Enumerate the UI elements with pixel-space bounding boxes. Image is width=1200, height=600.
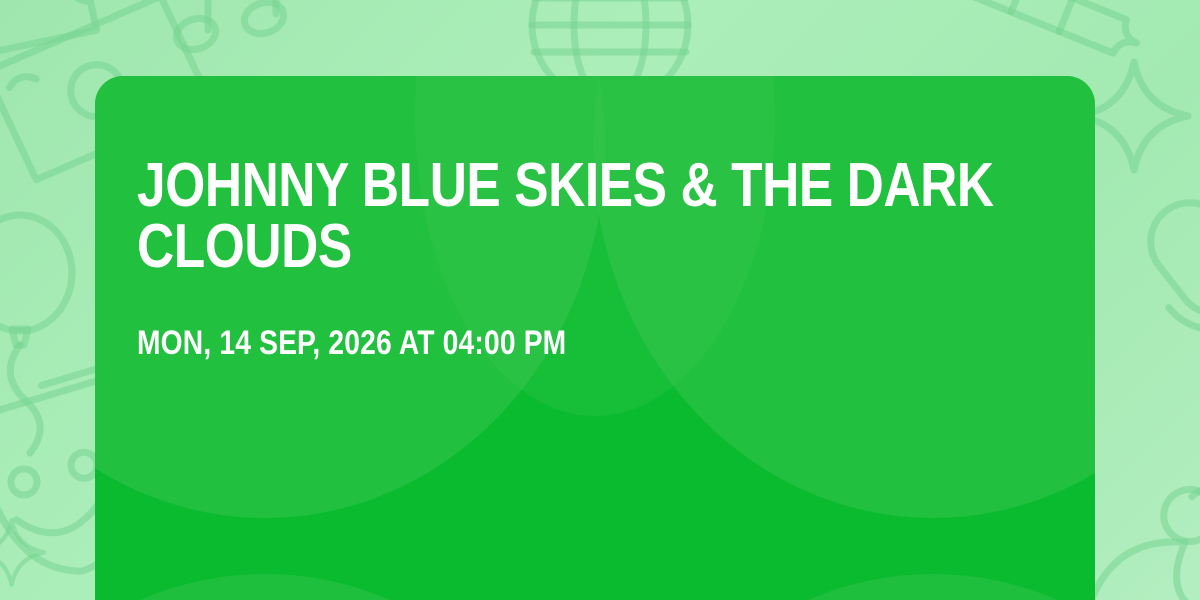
sparkle-icon bbox=[1080, 62, 1188, 170]
microphone-icon bbox=[1121, 176, 1200, 386]
ticket-icon bbox=[0, 0, 97, 55]
balloon-icon bbox=[0, 215, 72, 453]
petal-lower-right bbox=[593, 574, 1095, 600]
event-banner: Johnny Blue Skies & The Dark Clouds Mon,… bbox=[0, 0, 1200, 600]
event-datetime: Mon, 14 Sep, 2026 at 04:00 PM bbox=[137, 326, 1051, 360]
event-card[interactable]: Johnny Blue Skies & The Dark Clouds Mon,… bbox=[95, 76, 1095, 600]
event-title: Johnny Blue Skies & The Dark Clouds bbox=[137, 156, 1051, 278]
sparkle-icon bbox=[0, 520, 44, 585]
music-note-icon bbox=[172, 0, 287, 54]
event-card-content: Johnny Blue Skies & The Dark Clouds Mon,… bbox=[137, 156, 1055, 360]
petal-lower-left bbox=[95, 574, 605, 600]
ticket-icon bbox=[974, 0, 1143, 60]
